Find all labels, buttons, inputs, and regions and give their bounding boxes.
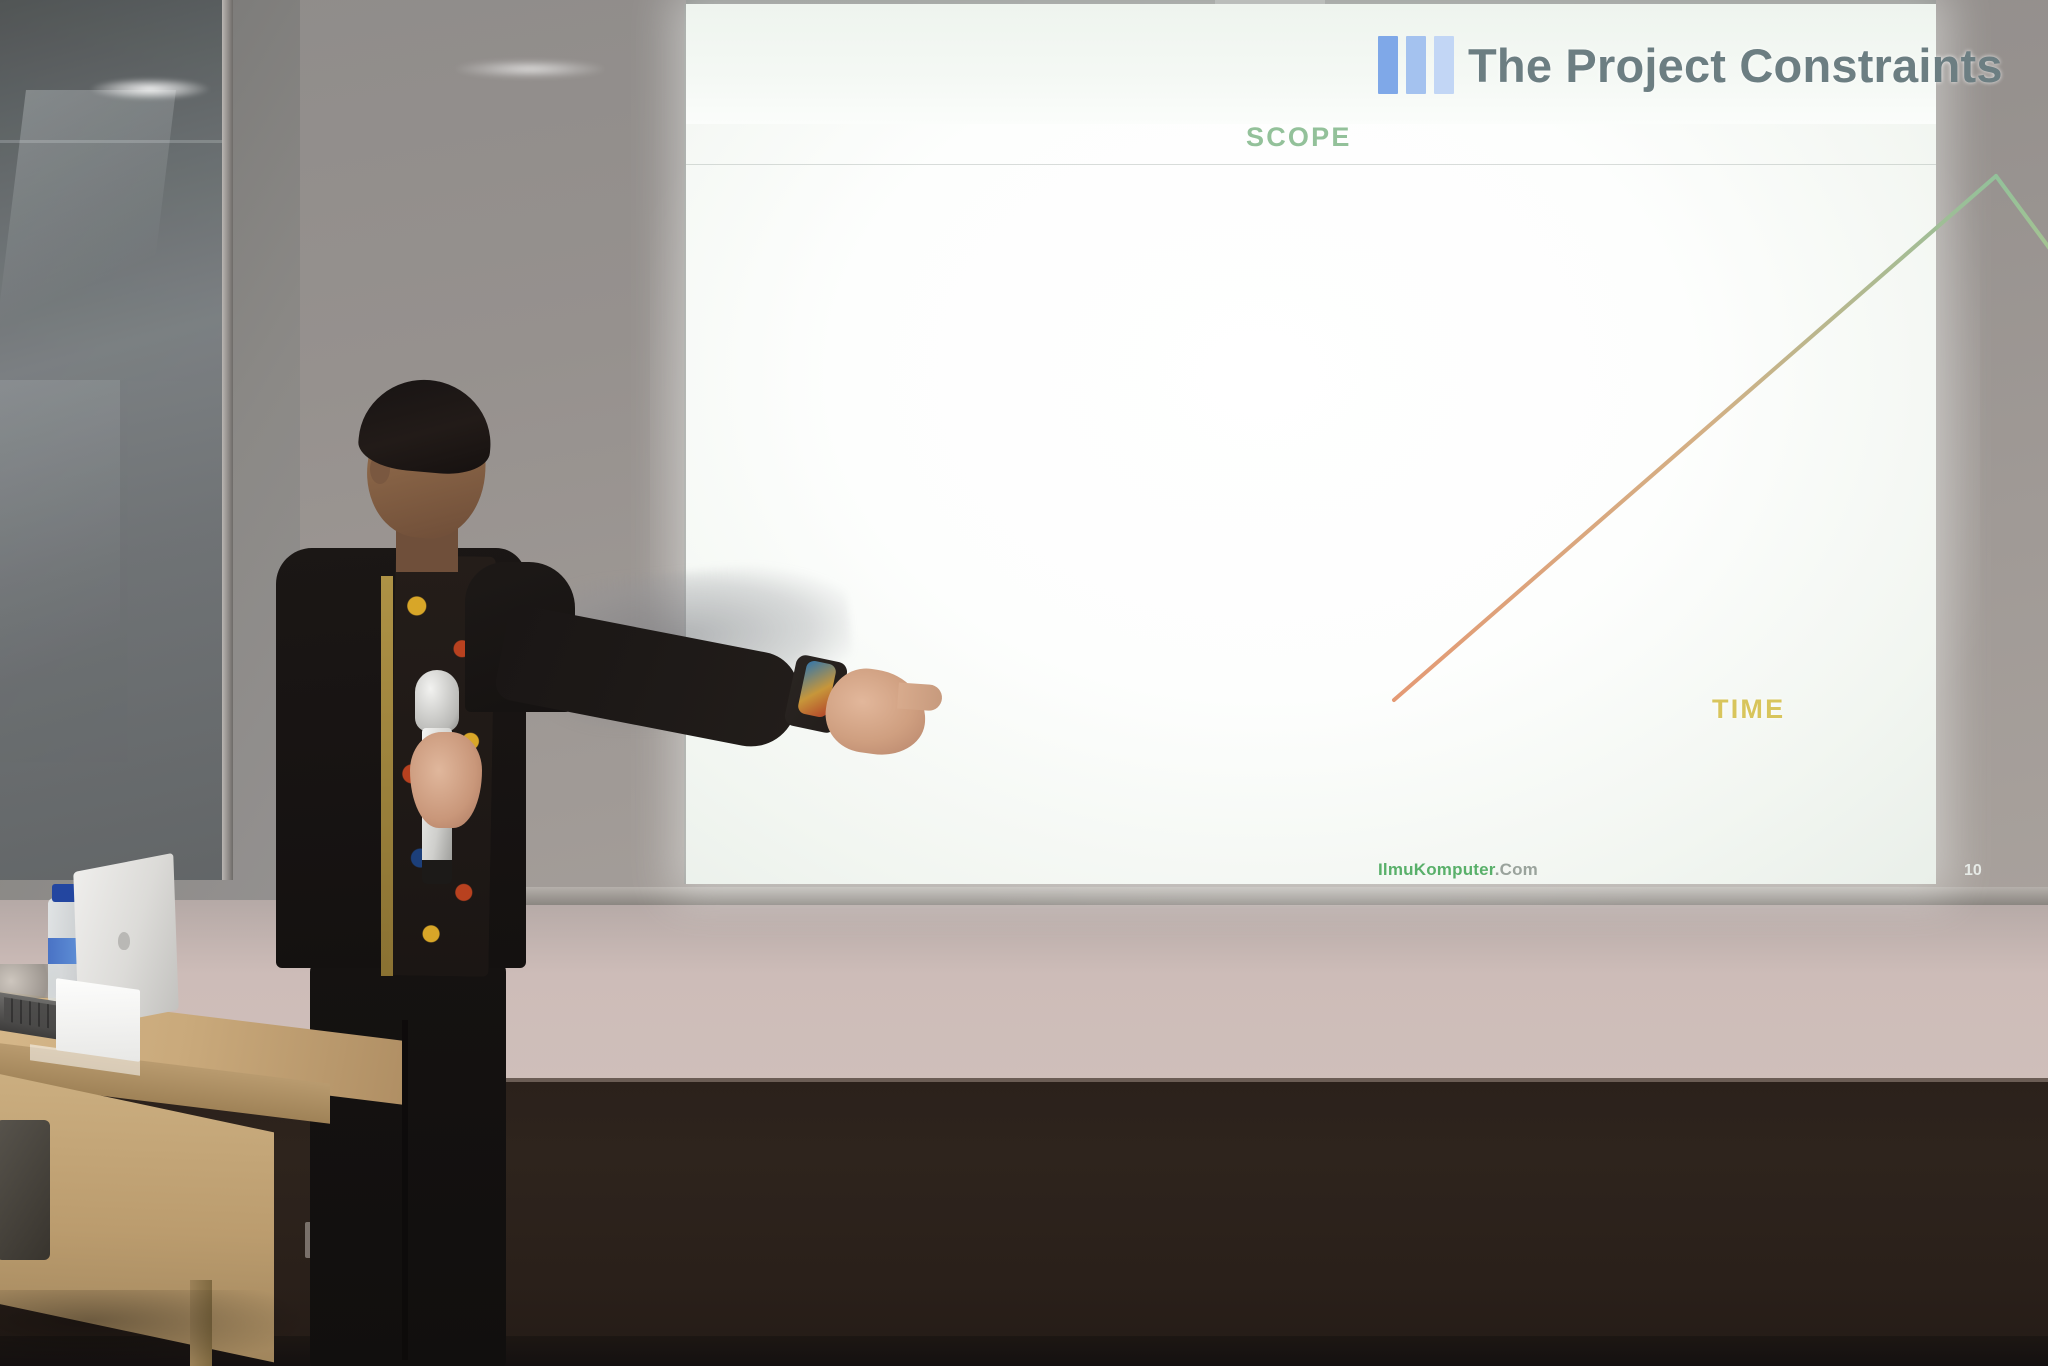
vertex-label-time: TIME bbox=[1712, 694, 1785, 725]
presenter-pointing-finger bbox=[897, 682, 943, 711]
microphone-base bbox=[422, 860, 452, 884]
slide-title-row: The Project Constraints bbox=[1378, 36, 2003, 94]
side-desk bbox=[0, 990, 420, 1366]
ceiling-light-reflection bbox=[90, 78, 210, 100]
desk-shadow bbox=[0, 1290, 300, 1366]
title-bar-1 bbox=[1378, 36, 1398, 94]
slide-page-number: 10 bbox=[1964, 862, 1982, 880]
title-bars-icon bbox=[1378, 36, 1454, 94]
laptop-logo bbox=[118, 932, 130, 950]
title-bar-2 bbox=[1406, 36, 1426, 94]
glass-glare-lower bbox=[0, 380, 120, 720]
chair bbox=[0, 1120, 50, 1260]
presenter-shirt-placket bbox=[381, 576, 393, 976]
glass-glare-upper bbox=[0, 90, 176, 350]
footer-brand-suffix: .Com bbox=[1495, 860, 1538, 879]
ceiling-light-reflection-secondary bbox=[455, 60, 605, 78]
screen-hairline bbox=[686, 164, 1936, 165]
footer-brand-name: IlmuKomputer bbox=[1378, 860, 1495, 879]
presenter-hair bbox=[356, 374, 496, 477]
glass-mullion bbox=[222, 0, 233, 880]
presenter-mic-hand bbox=[410, 732, 482, 828]
microphone-head bbox=[415, 670, 459, 732]
name-card bbox=[56, 978, 140, 1062]
presenter-extended-arm bbox=[493, 603, 806, 754]
glass-partition bbox=[0, 0, 232, 880]
slide-title: The Project Constraints bbox=[1468, 38, 2003, 93]
title-bar-3 bbox=[1434, 36, 1454, 94]
slide-footer-brand: IlmuKomputer.Com bbox=[1378, 860, 1538, 880]
presentation-photo-scene: The Project Constraints bbox=[0, 0, 2048, 1366]
vertex-label-scope: SCOPE bbox=[1246, 122, 1352, 153]
